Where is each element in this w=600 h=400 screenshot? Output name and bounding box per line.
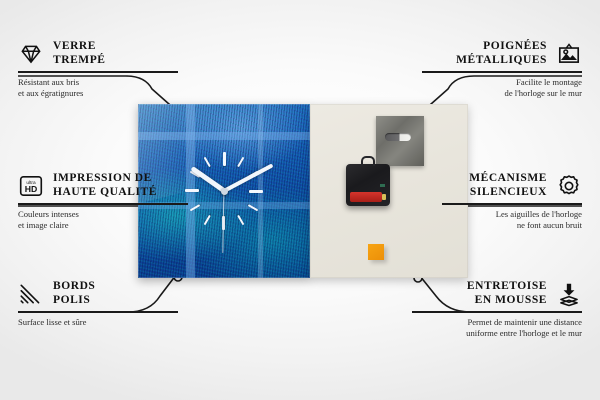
feature-verre-trempe: VERRE TREMPÉ Résistant aux bris et aux é… <box>18 40 178 99</box>
feature-sub-line2: de l'horloge sur le mur <box>422 88 582 99</box>
feature-rule <box>442 203 582 205</box>
feature-sub-line2: et aux égratignures <box>18 88 178 99</box>
foam-spacer <box>368 244 384 260</box>
battery <box>350 192 382 202</box>
feature-title-line2: HAUTE QUALITÉ <box>53 186 157 200</box>
hanger-keyhole-slot <box>385 133 411 141</box>
feature-rule <box>412 311 582 313</box>
feature-title-line1: ENTRETOISE <box>467 280 547 294</box>
feature-sub-line2: et image claire <box>18 220 188 231</box>
press-down-icon <box>556 281 582 307</box>
feature-rule <box>18 311 178 313</box>
feature-title-line1: MÉCANISME <box>469 172 547 186</box>
feature-entretoise-en-mousse: ENTRETOISE EN MOUSSE Permet de maintenir… <box>412 280 582 339</box>
feature-impression-haute-qualite: ultra HD IMPRESSION DE HAUTE QUALITÉ Cou… <box>18 172 188 231</box>
feature-title-line1: POIGNÉES <box>456 40 547 54</box>
diamond-icon <box>18 41 44 67</box>
feature-sub-line1: Surface lisse et sûre <box>18 317 178 328</box>
svg-text:HD: HD <box>25 184 38 194</box>
feature-title-line2: EN MOUSSE <box>467 294 547 308</box>
feature-title-line1: VERRE <box>53 40 106 54</box>
quartz-movement <box>346 164 390 206</box>
feature-title-line2: MÉTALLIQUES <box>456 54 547 68</box>
feature-rule <box>18 71 178 73</box>
movement-shaft <box>361 156 375 166</box>
metal-hanger-plate <box>376 116 424 166</box>
feature-title-line1: IMPRESSION DE <box>53 172 157 186</box>
feature-sub-line2: uniforme entre l'horloge et le mur <box>412 328 582 339</box>
feature-rule <box>422 71 582 73</box>
feature-bords-polis: BORDS POLIS Surface lisse et sûre <box>18 280 178 328</box>
ultra-hd-icon: ultra HD <box>18 173 44 199</box>
feature-title-line2: TREMPÉ <box>53 54 106 68</box>
hands-cap <box>221 188 228 195</box>
feature-mecanisme-silencieux: MÉCANISME SILENCIEUX Les aiguilles de l'… <box>442 172 582 231</box>
feature-title-line2: SILENCIEUX <box>469 186 547 200</box>
feature-sub-line1: Permet de maintenir une distance <box>412 317 582 328</box>
feature-sub-line1: Les aiguilles de l'horloge <box>442 209 582 220</box>
feature-rule <box>18 203 188 205</box>
picture-hanger-icon <box>556 41 582 67</box>
feature-title-line1: BORDS <box>53 280 95 294</box>
feature-sub-line1: Résistant aux bris <box>18 77 178 88</box>
feature-sub-line1: Facilite le montage <box>422 77 582 88</box>
polished-edge-icon <box>18 281 44 307</box>
feature-poignees-metalliques: POIGNÉES MÉTALLIQUES Facilite le montage… <box>422 40 582 99</box>
feature-title-line2: POLIS <box>53 294 95 308</box>
feature-sub-line1: Couleurs intenses <box>18 209 188 220</box>
gear-icon <box>556 173 582 199</box>
movement-contact <box>380 184 385 187</box>
infographic-stage: VERRE TREMPÉ Résistant aux bris et aux é… <box>0 0 600 400</box>
feature-sub-line2: ne font aucun bruit <box>442 220 582 231</box>
